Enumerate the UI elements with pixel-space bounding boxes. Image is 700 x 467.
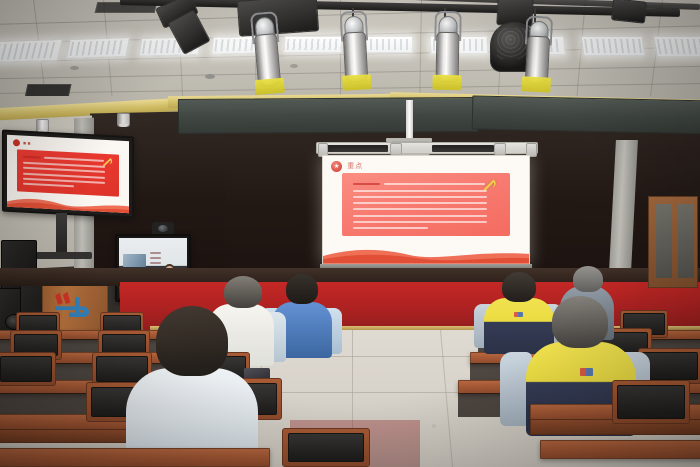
acoustic-panel-band [472,95,700,134]
slide-wave-decoration [323,242,529,264]
vest-logo [514,312,523,317]
slide-text-line [353,221,486,223]
ceiling-panel-light [0,39,63,63]
slide-text-card [342,173,511,236]
slide-header: ★ 重点 [331,160,363,172]
desk-row-1 [0,448,270,467]
ceiling-smoke-detector [290,64,298,68]
chair-row-2 [612,380,690,424]
ceiling-panel-light [581,36,646,56]
chair-row-1 [282,428,370,467]
attendee-hivis-front-hair [552,296,608,348]
screen-valance-end-cap [390,143,402,155]
slide-text-line [353,190,486,192]
slide-text-line [384,183,485,185]
side-door-glass [678,204,694,278]
projector-mount-pole [406,100,413,142]
conference-hall-photo: ★ 重点 ■ ■ [0,0,700,467]
ceiling-panel-light [653,36,700,57]
slide-text-line [353,183,380,185]
screen-valance-slot [432,145,494,152]
remote-slide-image [123,254,146,267]
screen-valance-slot [326,145,388,152]
led-display-base [34,252,92,259]
slide-text-line [353,227,427,229]
slide-text-line [353,208,486,210]
led-display-content: ■ ■ [7,135,129,213]
chair-row-3 [0,352,56,386]
attendee-front-left-hair [156,306,228,376]
attendee-hivis-back-hair [502,272,536,302]
ceiling-speaker-grille [205,74,215,79]
ceiling-panel-light [283,36,342,53]
slide-text-line [353,202,486,204]
stage-spotlight [436,32,460,82]
attendee-white-vest-hair [224,276,262,308]
vest-logo [580,368,593,376]
stage-spotlight [254,33,281,87]
attendee-blue-vest-hair [286,274,318,304]
slide-header-text: 重点 [347,161,363,171]
acoustic-panel-band [178,97,478,134]
side-door-glass [656,204,672,278]
stage-spotlight [343,31,369,82]
slide-text-line [353,215,486,217]
stage-spotlight [525,35,550,84]
led-display-stand [56,213,67,255]
ceiling-panel-light [66,37,130,59]
left-wall-led-display: ■ ■ [2,130,134,219]
attendee-far-right-hair [573,266,603,292]
party-badge-icon: ★ [331,161,342,172]
screen-valance-end-cap [494,143,506,155]
ceiling-smoke-detector [70,66,79,70]
slide-text-line [353,196,486,198]
desk-row-1-right [540,440,700,459]
wall-downlight [117,113,130,127]
stage-light-black-box [611,0,647,24]
projection-screen: ★ 重点 [322,155,530,265]
